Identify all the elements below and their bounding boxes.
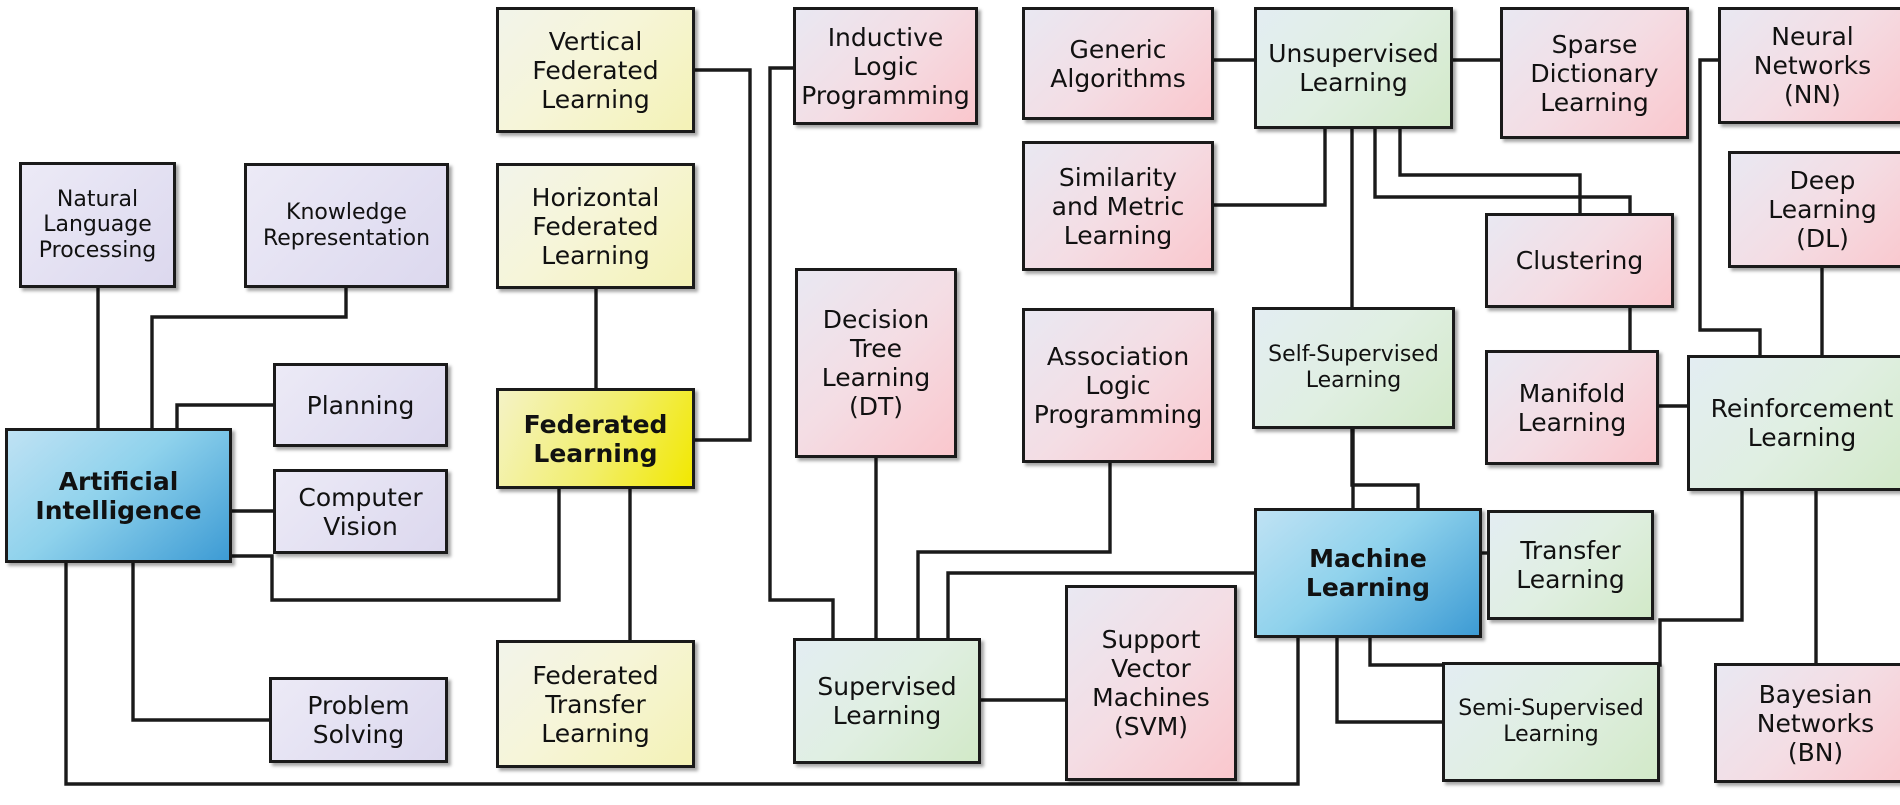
node-label-alp: AssociationLogicProgramming bbox=[1030, 342, 1207, 429]
node-label-dt: DecisionTreeLearning(DT) bbox=[818, 305, 935, 421]
node-label-cv: ComputerVision bbox=[294, 483, 426, 541]
node-bn[interactable]: BayesianNetworks(BN) bbox=[1714, 663, 1900, 783]
node-nlp[interactable]: NaturalLanguageProcessing bbox=[19, 162, 176, 288]
node-dl[interactable]: DeepLearning(DL) bbox=[1728, 151, 1900, 268]
diagram-canvas: NaturalLanguageProcessingKnowledgeRepres… bbox=[0, 0, 1900, 805]
node-label-ml: MachineLearning bbox=[1302, 544, 1434, 602]
node-clu[interactable]: Clustering bbox=[1485, 213, 1674, 308]
node-label-ps: ProblemSolving bbox=[303, 691, 413, 749]
node-label-sml: Similarityand MetricLearning bbox=[1048, 163, 1189, 250]
node-ftl[interactable]: FederatedTransferLearning bbox=[496, 640, 695, 768]
node-ml[interactable]: MachineLearning bbox=[1254, 508, 1482, 638]
node-ps[interactable]: ProblemSolving bbox=[269, 677, 448, 763]
node-ilp[interactable]: InductiveLogicProgramming bbox=[793, 7, 978, 125]
node-label-sdl: SparseDictionaryLearning bbox=[1526, 30, 1662, 117]
node-label-clu: Clustering bbox=[1512, 246, 1647, 275]
node-label-mfl: ManifoldLearning bbox=[1514, 379, 1631, 437]
node-tl[interactable]: TransferLearning bbox=[1487, 510, 1654, 620]
node-label-ai: ArtificialIntelligence bbox=[31, 467, 205, 525]
node-label-sl: SupervisedLearning bbox=[813, 672, 960, 730]
node-label-nlp: NaturalLanguageProcessing bbox=[35, 187, 160, 264]
connector-vfl-to-fl bbox=[695, 70, 750, 440]
node-vfl[interactable]: VerticalFederatedLearning bbox=[496, 7, 695, 133]
node-label-dl: DeepLearning(DL) bbox=[1764, 166, 1881, 253]
node-svm[interactable]: SupportVectorMachines(SVM) bbox=[1065, 585, 1237, 781]
node-sdl[interactable]: SparseDictionaryLearning bbox=[1500, 7, 1689, 139]
node-plan[interactable]: Planning bbox=[273, 363, 448, 447]
node-label-svm: SupportVectorMachines(SVM) bbox=[1088, 625, 1214, 741]
node-label-hfl: HorizontalFederatedLearning bbox=[528, 183, 664, 270]
node-ai[interactable]: ArtificialIntelligence bbox=[5, 428, 232, 563]
node-nn[interactable]: NeuralNetworks(NN) bbox=[1718, 7, 1900, 124]
node-label-ilp: InductiveLogicProgramming bbox=[797, 23, 974, 110]
node-semi[interactable]: Semi-SupervisedLearning bbox=[1442, 662, 1660, 782]
node-sml[interactable]: Similarityand MetricLearning bbox=[1022, 141, 1214, 271]
node-label-ftl: FederatedTransferLearning bbox=[528, 661, 662, 748]
connector-sml-to-usl bbox=[1214, 129, 1325, 205]
node-label-kr: KnowledgeRepresentation bbox=[259, 200, 434, 251]
node-label-vfl: VerticalFederatedLearning bbox=[528, 27, 662, 114]
connector-plan-to-ai bbox=[177, 405, 273, 428]
connector-usl-to-clu bbox=[1400, 129, 1580, 213]
node-fl[interactable]: FederatedLearning bbox=[496, 388, 695, 489]
node-alp[interactable]: AssociationLogicProgramming bbox=[1022, 308, 1214, 463]
node-ga[interactable]: GenericAlgorithms bbox=[1022, 7, 1214, 120]
node-kr[interactable]: KnowledgeRepresentation bbox=[244, 163, 449, 288]
node-dt[interactable]: DecisionTreeLearning(DT) bbox=[795, 268, 957, 458]
node-hfl[interactable]: HorizontalFederatedLearning bbox=[496, 163, 695, 289]
node-mfl[interactable]: ManifoldLearning bbox=[1485, 350, 1659, 465]
node-usl[interactable]: UnsupervisedLearning bbox=[1254, 7, 1453, 129]
node-cv[interactable]: ComputerVision bbox=[273, 469, 448, 554]
node-label-bn: BayesianNetworks(BN) bbox=[1753, 680, 1878, 767]
node-label-nn: NeuralNetworks(NN) bbox=[1750, 22, 1875, 109]
node-label-plan: Planning bbox=[303, 391, 419, 420]
node-label-fl: FederatedLearning bbox=[520, 410, 672, 468]
node-label-ga: GenericAlgorithms bbox=[1046, 35, 1189, 93]
node-rl[interactable]: ReinforcementLearning bbox=[1687, 355, 1900, 491]
node-label-tl: TransferLearning bbox=[1512, 536, 1629, 594]
node-label-rl: ReinforcementLearning bbox=[1707, 394, 1898, 452]
node-ssl[interactable]: Self-SupervisedLearning bbox=[1252, 307, 1455, 429]
node-label-usl: UnsupervisedLearning bbox=[1264, 39, 1443, 97]
node-label-semi: Semi-SupervisedLearning bbox=[1454, 696, 1648, 747]
node-sl[interactable]: SupervisedLearning bbox=[793, 638, 981, 764]
connector-ml-to-semi bbox=[1337, 638, 1442, 722]
node-label-ssl: Self-SupervisedLearning bbox=[1264, 342, 1443, 393]
connector-ai-to-ps bbox=[133, 563, 269, 720]
